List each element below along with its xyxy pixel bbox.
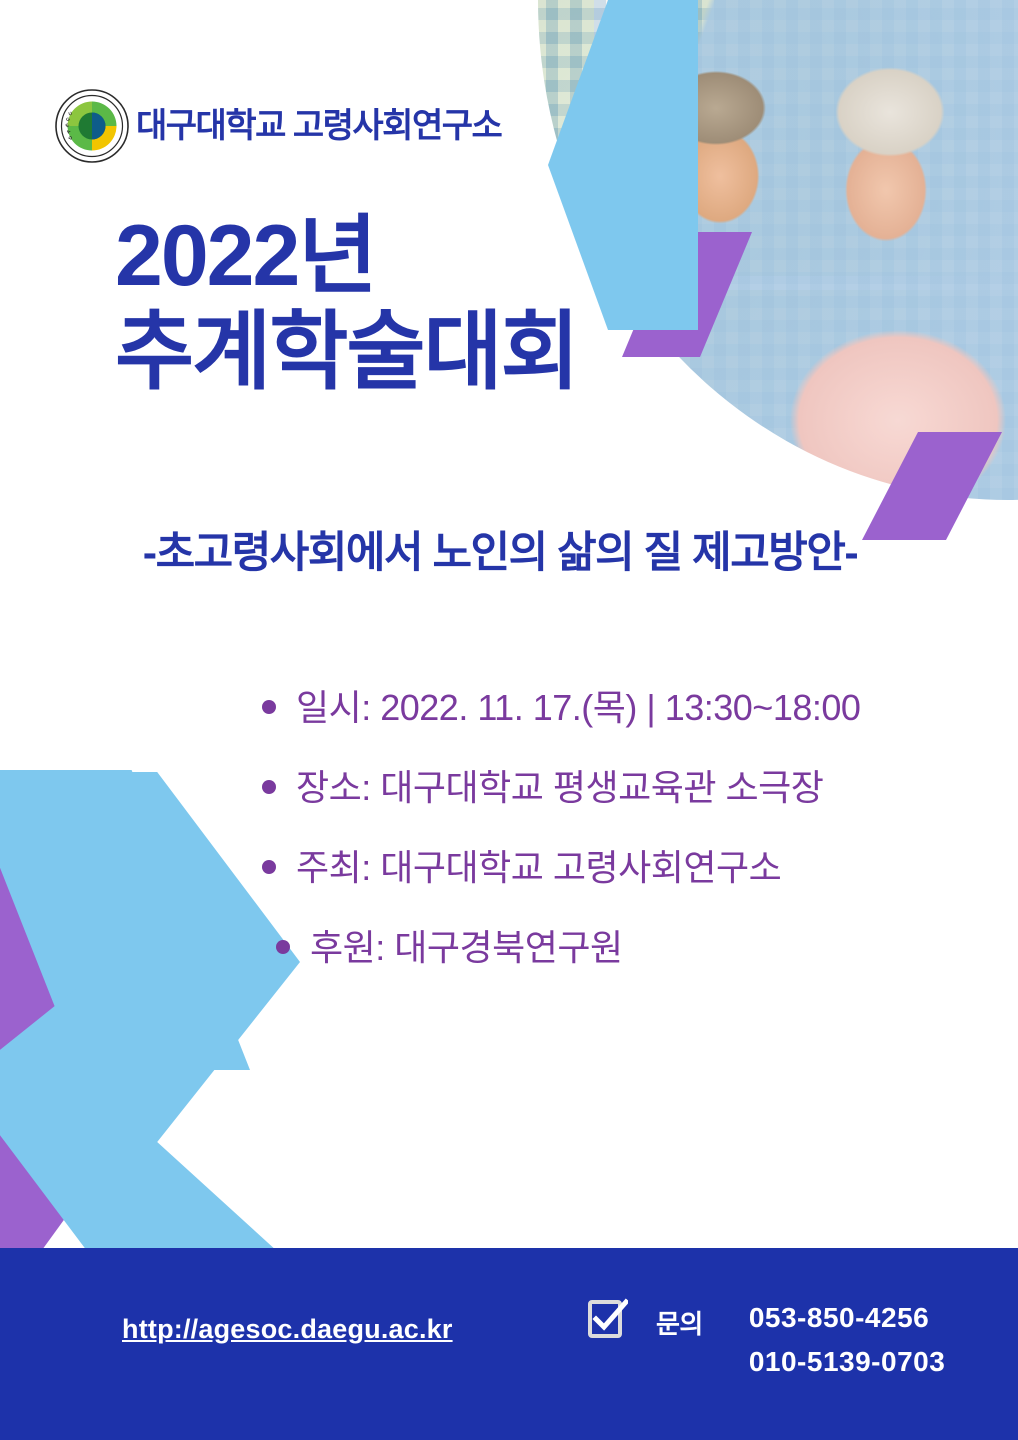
bullet-dot-icon <box>276 940 290 954</box>
website-url-link[interactable]: http://agesoc.daegu.ac.kr <box>122 1314 453 1345</box>
contact-phone-list: 053-850-4256 010-5139-0703 <box>731 1298 945 1378</box>
info-item-host: 주최: 대구대학교 고령사회연구소 <box>262 850 860 886</box>
checkbox-checked-icon <box>586 1298 628 1340</box>
footer-bar: http://agesoc.daegu.ac.kr 문의 053-850-425… <box>0 1248 1018 1440</box>
contact-phone-office: 053-850-4256 <box>749 1302 945 1334</box>
info-item-host-text: 주최: 대구대학교 고령사회연구소 <box>296 850 781 886</box>
contact-phone-mobile: 010-5139-0703 <box>749 1346 945 1378</box>
main-title: 2022년 추계학술대회 <box>115 208 578 401</box>
title-line-year: 2022년 <box>115 208 578 304</box>
contact-block: 문의 053-850-4256 010-5139-0703 <box>586 1298 945 1378</box>
info-item-venue-text: 장소: 대구대학교 평생교육관 소극장 <box>296 770 823 806</box>
poster-canvas: D A E G U 대구대학교 고령사회연구소 2022년 추계학술대회 -초고… <box>0 0 1018 1440</box>
info-item-sponsor: 후원: 대구경북연구원 <box>262 930 860 966</box>
info-item-sponsor-text: 후원: 대구경북연구원 <box>310 930 623 966</box>
contact-label: 문의 <box>656 1298 703 1341</box>
poster-header: D A E G U 대구대학교 고령사회연구소 <box>54 88 501 164</box>
subtitle-theme: -초고령사회에서 노인의 삶의 질 제고방안- <box>50 518 950 580</box>
bullet-dot-icon <box>262 780 276 794</box>
info-item-venue: 장소: 대구대학교 평생교육관 소극장 <box>262 770 860 806</box>
event-info-list: 일시: 2022. 11. 17.(목) | 13:30~18:00 장소: 대… <box>262 690 860 966</box>
info-item-date: 일시: 2022. 11. 17.(목) | 13:30~18:00 <box>262 690 860 726</box>
daegu-university-logo-icon: D A E G U <box>54 88 130 164</box>
organization-name: 대구대학교 고령사회연구소 <box>136 109 501 143</box>
bullet-dot-icon <box>262 860 276 874</box>
title-line-event: 추계학술대회 <box>115 304 578 400</box>
info-item-date-text: 일시: 2022. 11. 17.(목) | 13:30~18:00 <box>296 690 860 726</box>
bullet-dot-icon <box>262 700 276 714</box>
